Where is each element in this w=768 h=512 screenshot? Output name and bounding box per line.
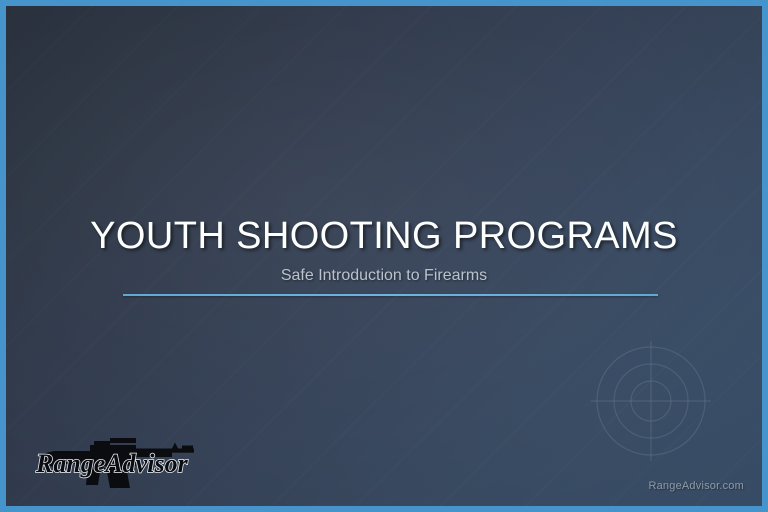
brand-logo: RangeAdvisor <box>32 434 204 496</box>
title-divider <box>123 294 658 296</box>
page-subtitle: Safe Introduction to Firearms <box>6 266 762 286</box>
brand-wordmark: RangeAdvisor <box>35 449 189 478</box>
presentation-slide: YOUTH SHOOTING PROGRAMS Safe Introductio… <box>0 0 768 512</box>
footer-url: RangeAdvisor.com <box>648 480 744 492</box>
page-title: YOUTH SHOOTING PROGRAMS <box>6 214 762 258</box>
crosshair-target-icon <box>589 339 713 463</box>
title-block: YOUTH SHOOTING PROGRAMS Safe Introductio… <box>6 214 762 286</box>
